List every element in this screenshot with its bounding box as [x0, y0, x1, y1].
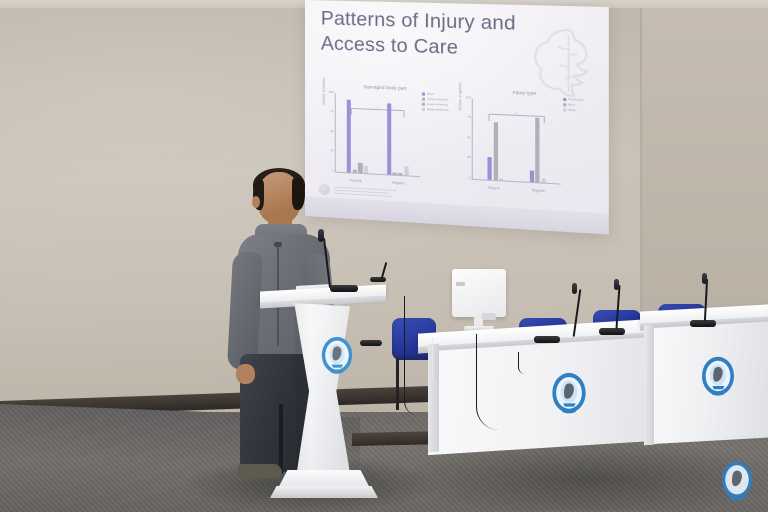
legend-item: Upper extremity [422, 98, 451, 103]
university-seal-icon [318, 334, 356, 380]
ytick: 50 [467, 136, 471, 139]
xtick: Regress [392, 181, 405, 186]
monitor-cable [476, 334, 499, 430]
bar [493, 122, 497, 180]
monitor-panel [452, 269, 506, 317]
ytick: 25 [330, 150, 333, 153]
speaker-podium [262, 288, 382, 506]
chart-injury-type: Injury type Number of patients 100 75 50… [457, 88, 593, 198]
bar [398, 173, 402, 176]
bar [404, 166, 408, 176]
slide-title: Patterns of Injury and Access to Care [321, 6, 581, 65]
university-seal-icon [698, 354, 738, 402]
bar [387, 103, 391, 174]
chart-yticks-right: 100 75 50 25 0 [462, 96, 470, 180]
legend-item: Head [422, 92, 451, 97]
ytick: 0 [469, 176, 471, 179]
bar [499, 178, 503, 181]
legend-label: Abdomen/thorax [427, 108, 449, 112]
chart-yticks-left: 100 75 50 25 0 [326, 91, 334, 173]
bar [488, 157, 492, 180]
conference-desk-front [418, 326, 662, 456]
legend-item: Penetrating [563, 98, 593, 103]
chart-bars-right [473, 99, 561, 184]
conference-desk-side [640, 308, 768, 458]
ytick: 100 [465, 96, 470, 99]
legend-swatch [563, 103, 567, 107]
bar [529, 171, 533, 183]
ytick: 50 [330, 130, 333, 133]
photographer-seal-icon [716, 458, 758, 504]
desktop-monitor-icon [452, 269, 506, 331]
mic-capsule [614, 279, 619, 290]
legend-item: Abdomen/thorax [422, 108, 451, 113]
mic-base [534, 336, 560, 343]
white-cable [432, 338, 447, 390]
legend-swatch [563, 108, 567, 112]
mic-capsule [318, 229, 324, 242]
podium-base-plinth [270, 486, 378, 498]
mic-capsule [572, 283, 577, 294]
desk-leg [644, 325, 654, 446]
legend-item: Blunt [563, 103, 593, 108]
legend-label: Lower extremity [427, 103, 448, 107]
ytick: 25 [467, 156, 471, 159]
legend-swatch [422, 92, 425, 96]
chart-legend-right: Penetrating Blunt Mixed [563, 98, 593, 115]
slide-charts: Damaged body part Number of patients 100… [321, 83, 594, 198]
chart-plot-left: * [335, 93, 420, 177]
mic-base [330, 285, 358, 292]
legend-label: Penetrating [568, 98, 584, 102]
bar [364, 166, 368, 173]
bar-group-regress [529, 101, 545, 183]
xtick: Present [488, 186, 500, 191]
bar-group-present [347, 94, 368, 174]
legend-label: Upper extremity [427, 98, 448, 102]
bar [541, 178, 545, 182]
mic-base [690, 320, 716, 327]
legend-swatch [422, 98, 425, 102]
legend-swatch [422, 103, 425, 107]
secondary-mic-base [370, 277, 386, 282]
hair-right [292, 178, 305, 210]
cable-segment [518, 352, 525, 374]
university-seal-icon [548, 370, 590, 420]
chart-legend-left: Head Upper extremity Lower extremity Abd… [422, 92, 451, 114]
legend-swatch [422, 108, 425, 112]
slide-footer-text [334, 186, 397, 197]
left-arm [227, 251, 263, 370]
xtick: Present [350, 178, 361, 183]
monitor-cable-hub [482, 313, 496, 320]
ytick: 75 [330, 111, 333, 114]
mic-base [599, 328, 625, 335]
ytick: 75 [467, 116, 471, 119]
presentation-photo-scene: Patterns of Injury and Access to Care Da… [0, 0, 768, 512]
projection-screen: Patterns of Injury and Access to Care Da… [305, 0, 609, 235]
chart-bars-left [336, 93, 420, 176]
zipper-pull [274, 242, 282, 247]
bar [358, 163, 362, 173]
bar-group-present [488, 99, 504, 180]
bar [393, 173, 397, 175]
chart-plot-right: * [472, 99, 561, 185]
podium-column-shadow [288, 303, 310, 473]
legend-item: Mixed [563, 108, 593, 113]
legend-item: Lower extremity [422, 103, 451, 108]
legend-label: Mixed [568, 109, 576, 112]
legend-label: Blunt [568, 104, 575, 107]
ytick: 100 [329, 91, 334, 94]
left-hand [236, 364, 255, 384]
power-cable [404, 296, 419, 416]
legend-swatch [563, 98, 567, 102]
bar [353, 169, 357, 172]
ear [252, 196, 260, 208]
desk-front-panel [428, 337, 654, 455]
bar [535, 117, 539, 182]
chair-leg [396, 358, 399, 410]
legend-label: Head [427, 93, 434, 96]
mic-capsule [702, 273, 707, 284]
xtick: Regress [532, 188, 545, 193]
monitor-vent [456, 282, 465, 286]
bar [347, 100, 351, 173]
bar-group-regress [387, 95, 408, 175]
